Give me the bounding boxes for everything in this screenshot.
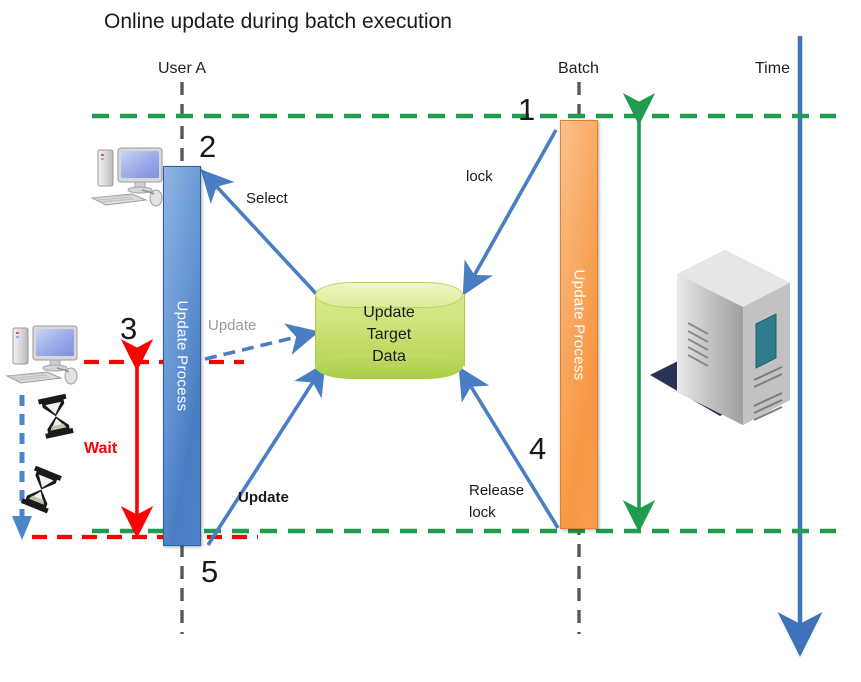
arrow-update-pending — [205, 333, 313, 359]
database-cylinder: Update Target Data — [315, 282, 463, 378]
database-label-line2: Target — [315, 324, 463, 346]
step-number-1: 1 — [518, 92, 535, 128]
desktop-computer-icon — [7, 326, 77, 384]
hourglass-icon — [21, 466, 62, 514]
arrow-update-commit — [208, 368, 322, 545]
bar-batch-update-process-label: Update Process — [571, 269, 588, 380]
desktop-computer-icon — [92, 148, 162, 206]
wait-label: Wait — [84, 440, 117, 458]
arrow-lock — [466, 130, 556, 290]
waiting-progress-arrow — [12, 395, 32, 540]
page-title: Online update during batch execution — [104, 10, 452, 34]
bar-batch-update-process: Update Process — [560, 120, 598, 529]
database-label: Update Target Data — [315, 302, 463, 368]
step-number-4: 4 — [529, 431, 546, 467]
server-tower-icon — [650, 250, 790, 425]
lifeline-label-batch: Batch — [558, 60, 599, 78]
diagram-canvas: Online update during batch execution Use… — [0, 0, 861, 682]
step-number-2: 2 — [199, 129, 216, 165]
arrow-label-update-pending: Update — [208, 317, 256, 334]
lifeline-label-user-a: User A — [158, 60, 206, 78]
database-label-line3: Data — [315, 346, 463, 368]
arrow-label-release-lock: Release lock — [469, 480, 539, 524]
database-label-line1: Update — [315, 302, 463, 324]
step-number-5: 5 — [201, 554, 218, 590]
lifeline-label-time: Time — [755, 60, 790, 78]
bar-user-update-process: Update Process — [163, 166, 201, 546]
hourglass-icon — [38, 394, 74, 439]
step-number-3: 3 — [120, 311, 137, 347]
arrow-label-select: Select — [246, 190, 288, 207]
arrow-label-update-commit: Update — [238, 489, 289, 506]
arrow-label-lock: lock — [466, 168, 493, 185]
bar-user-update-process-label: Update Process — [174, 301, 191, 412]
